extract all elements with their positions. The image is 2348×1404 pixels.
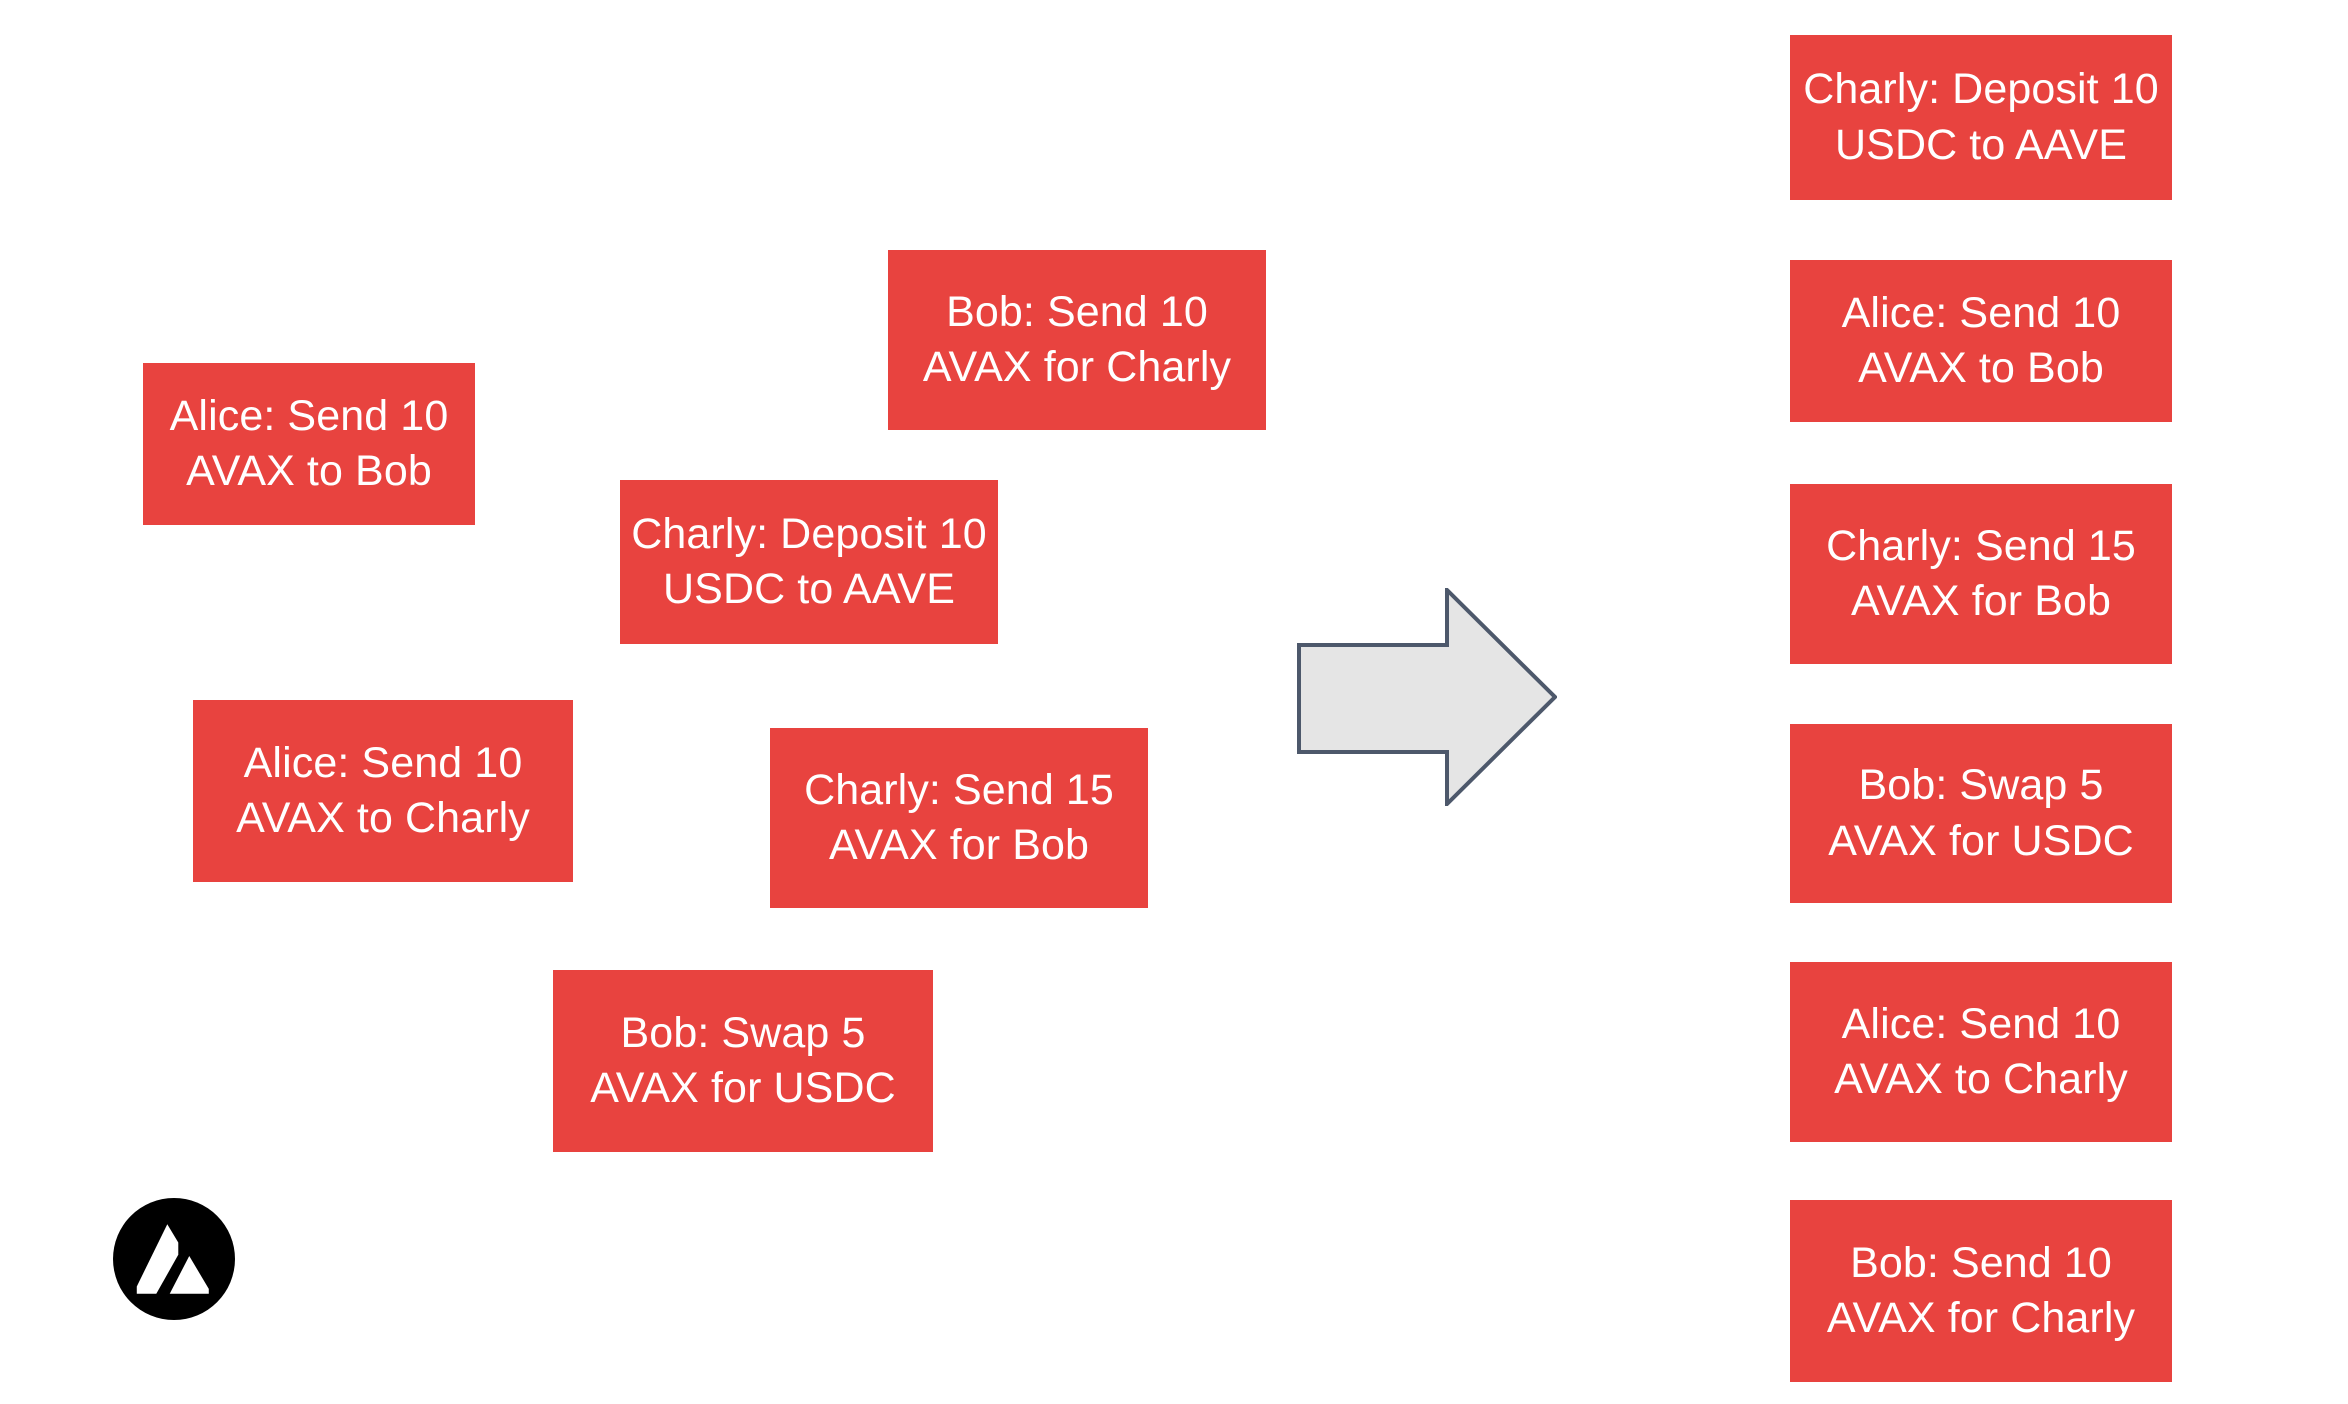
transaction-text-line-2: AVAX for USDC xyxy=(590,1061,896,1116)
transaction-text-line-2: AVAX for Bob xyxy=(1851,574,2111,629)
transaction-text-line-1: Charly: Send 15 xyxy=(804,763,1114,818)
transaction-text-line-1: Alice: Send 10 xyxy=(170,389,449,444)
transaction-text-line-2: AVAX to Bob xyxy=(1858,341,2104,396)
transaction-text-line-1: Bob: Swap 5 xyxy=(1859,758,2104,813)
ordered-tx-bob-swap-5-avax-for-usdc[interactable]: Bob: Swap 5AVAX for USDC xyxy=(1790,724,2172,903)
ordering-arrow xyxy=(1297,588,1557,806)
mempool-tx-charly-send-15-avax-for-bob[interactable]: Charly: Send 15AVAX for Bob xyxy=(770,728,1148,908)
mempool-tx-alice-send-10-avax-to-bob[interactable]: Alice: Send 10AVAX to Bob xyxy=(143,363,475,525)
ordered-tx-charly-deposit-10-usdc-to-aave[interactable]: Charly: Deposit 10USDC to AAVE xyxy=(1790,35,2172,200)
transaction-text-line-2: AVAX for USDC xyxy=(1828,814,2134,869)
transaction-text-line-1: Alice: Send 10 xyxy=(1842,997,2121,1052)
avalanche-logo-icon xyxy=(113,1198,235,1320)
mempool-tx-alice-send-10-avax-to-charly[interactable]: Alice: Send 10AVAX to Charly xyxy=(193,700,573,882)
transaction-text-line-1: Bob: Send 10 xyxy=(946,285,1208,340)
ordered-tx-bob-send-10-avax-for-charly[interactable]: Bob: Send 10AVAX for Charly xyxy=(1790,1200,2172,1382)
mempool-tx-bob-send-10-avax-for-charly[interactable]: Bob: Send 10AVAX for Charly xyxy=(888,250,1266,430)
transaction-text-line-1: Alice: Send 10 xyxy=(1842,286,2121,341)
transaction-text-line-2: AVAX to Bob xyxy=(186,444,432,499)
avalanche-logo xyxy=(113,1198,235,1320)
mempool-tx-charly-deposit-10-usdc-to-aave[interactable]: Charly: Deposit 10USDC to AAVE xyxy=(620,480,998,644)
transaction-text-line-1: Bob: Swap 5 xyxy=(621,1006,866,1061)
transaction-text-line-2: USDC to AAVE xyxy=(663,562,955,617)
diagram-canvas: Alice: Send 10AVAX to BobBob: Send 10AVA… xyxy=(0,0,2348,1404)
transaction-text-line-1: Charly: Deposit 10 xyxy=(631,507,987,562)
ordered-tx-alice-send-10-avax-to-bob[interactable]: Alice: Send 10AVAX to Bob xyxy=(1790,260,2172,422)
transaction-text-line-2: AVAX for Charly xyxy=(1827,1291,2135,1346)
transaction-text-line-2: AVAX for Bob xyxy=(829,818,1089,873)
mempool-tx-bob-swap-5-avax-for-usdc[interactable]: Bob: Swap 5AVAX for USDC xyxy=(553,970,933,1152)
ordered-tx-charly-send-15-avax-for-bob[interactable]: Charly: Send 15AVAX for Bob xyxy=(1790,484,2172,664)
transaction-text-line-1: Charly: Send 15 xyxy=(1826,519,2136,574)
transaction-text-line-2: USDC to AAVE xyxy=(1835,118,2127,173)
transaction-text-line-2: AVAX for Charly xyxy=(923,340,1231,395)
transaction-text-line-2: AVAX to Charly xyxy=(1834,1052,2128,1107)
ordered-tx-alice-send-10-avax-to-charly[interactable]: Alice: Send 10AVAX to Charly xyxy=(1790,962,2172,1142)
transaction-text-line-2: AVAX to Charly xyxy=(236,791,530,846)
transaction-text-line-1: Alice: Send 10 xyxy=(244,736,523,791)
transaction-text-line-1: Bob: Send 10 xyxy=(1850,1236,2112,1291)
transaction-text-line-1: Charly: Deposit 10 xyxy=(1803,62,2159,117)
right-arrow-icon xyxy=(1297,588,1557,806)
